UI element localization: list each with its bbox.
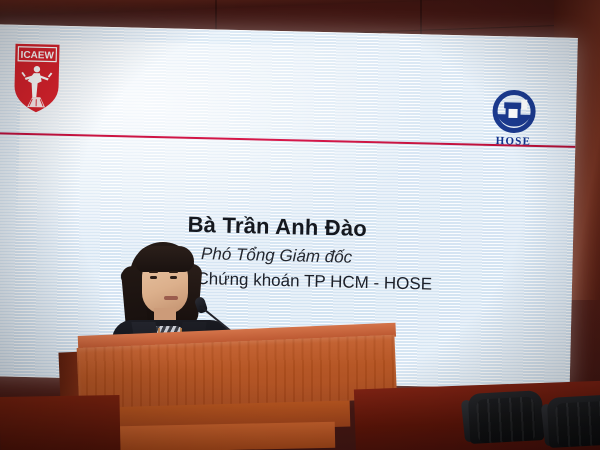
hose-wordmark: HOSE [480,135,546,149]
podium-base-lower [120,422,335,450]
eyebrow-left [149,271,158,273]
eye-left [150,276,157,279]
executive-chair [547,394,600,448]
icaew-shield-icon: ICAEW [12,42,62,115]
svg-text:ICAEW: ICAEW [20,50,54,62]
conference-photo: ICAEW [0,0,600,450]
ceiling-beam [0,0,600,18]
eye-right [170,276,177,279]
executive-chair [468,390,545,444]
hose-logo: HOSE [480,88,547,149]
eyebrow-right [169,271,178,273]
fringe [136,246,194,272]
mouth [164,296,178,300]
slide-text-block: Bà Trần Anh Đào Phó Tổng Giám đốc Giao d… [0,207,574,298]
desk-left-segment [0,395,121,450]
hose-circle-icon [491,88,538,135]
